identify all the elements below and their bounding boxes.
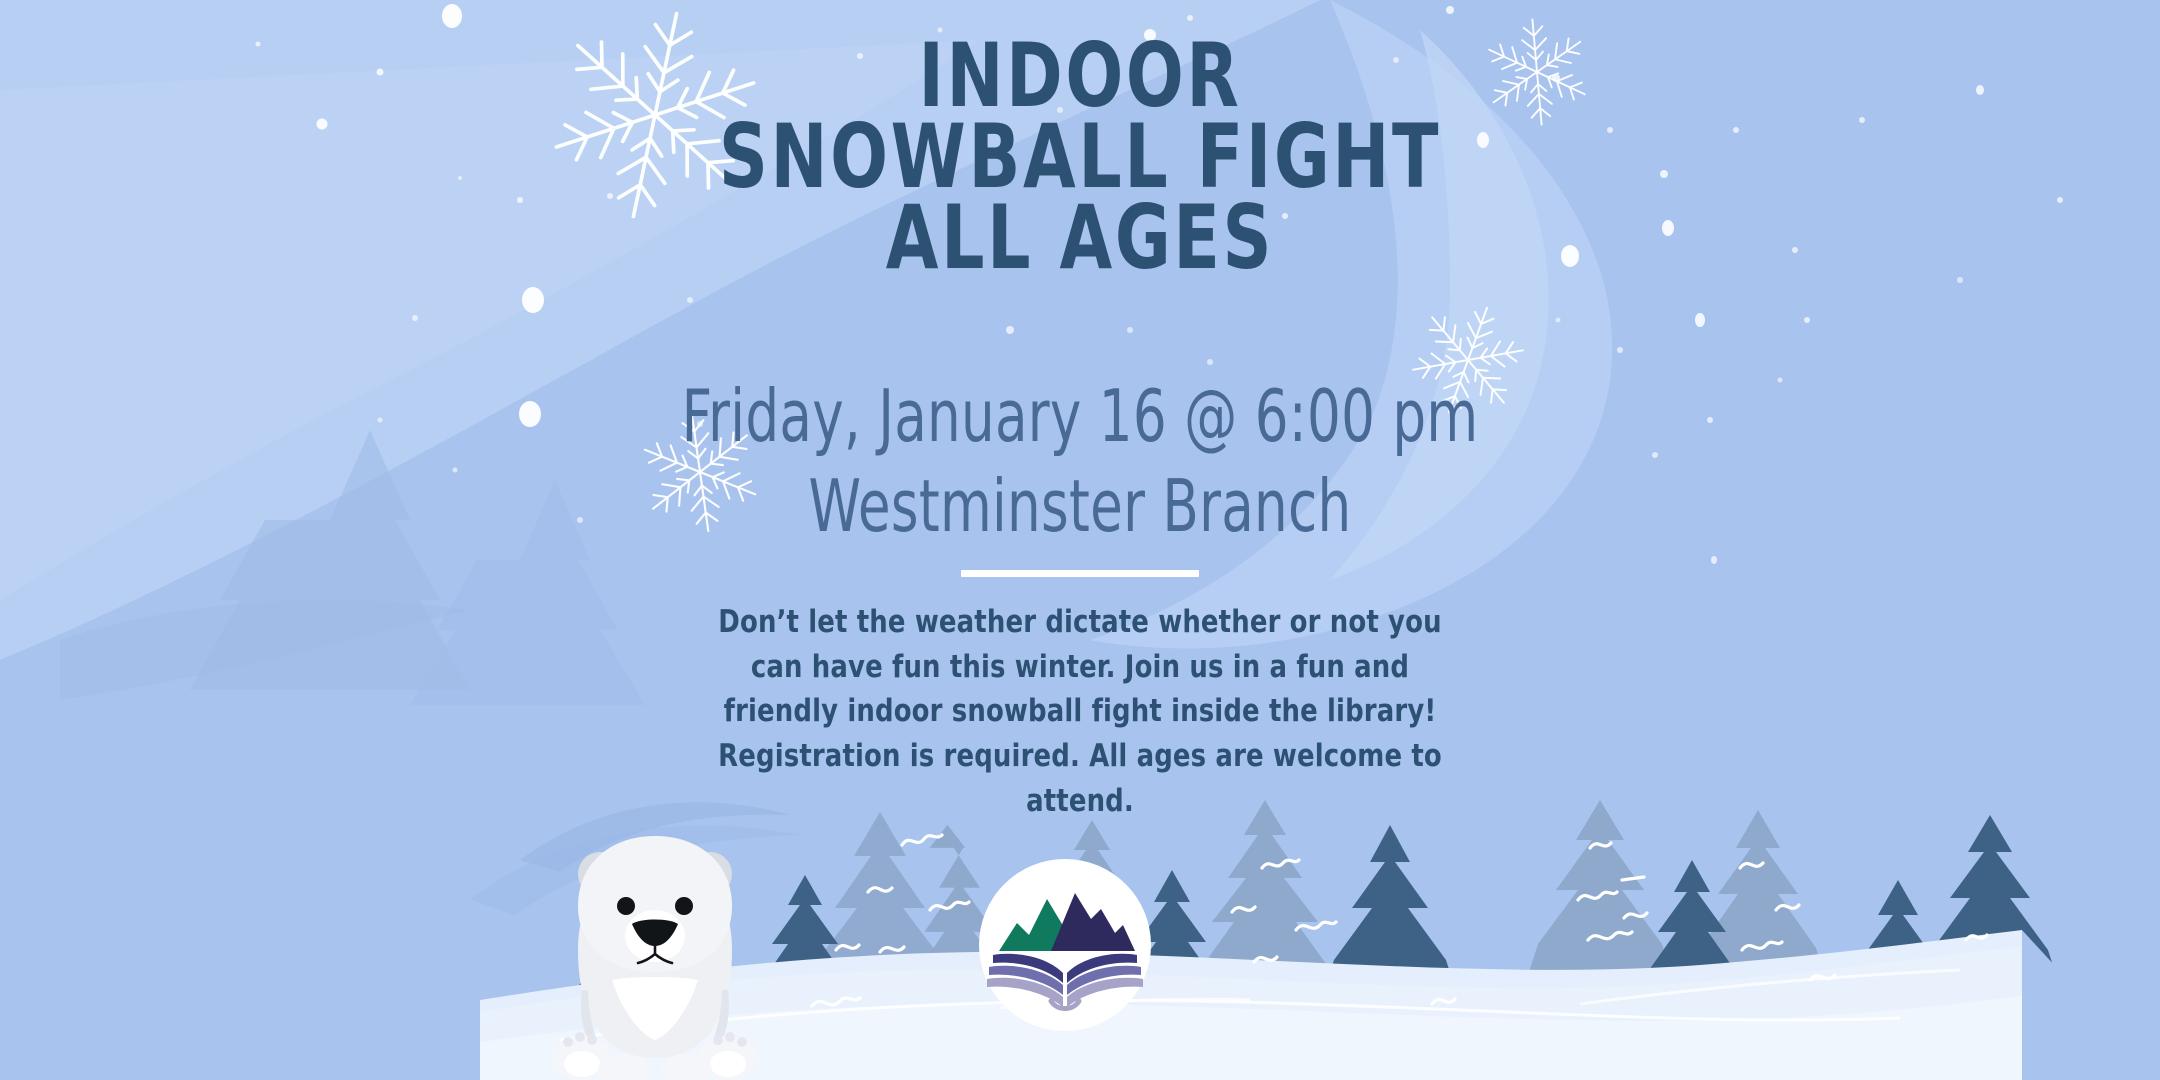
event-location: Westminster Branch bbox=[194, 470, 1965, 543]
divider-rule bbox=[961, 570, 1199, 577]
event-date-time: Friday, January 16 @ 6:00 pm bbox=[194, 380, 1965, 453]
event-description: Don’t let the weather dictate whether or… bbox=[703, 600, 1456, 823]
headline-line-3: ALL AGES bbox=[151, 198, 2009, 279]
headline-block: INDOOR SNOWBALL FIGHT ALL AGES bbox=[0, 36, 2160, 279]
winter-event-poster: INDOOR SNOWBALL FIGHT ALL AGES Friday, J… bbox=[0, 0, 2160, 1080]
